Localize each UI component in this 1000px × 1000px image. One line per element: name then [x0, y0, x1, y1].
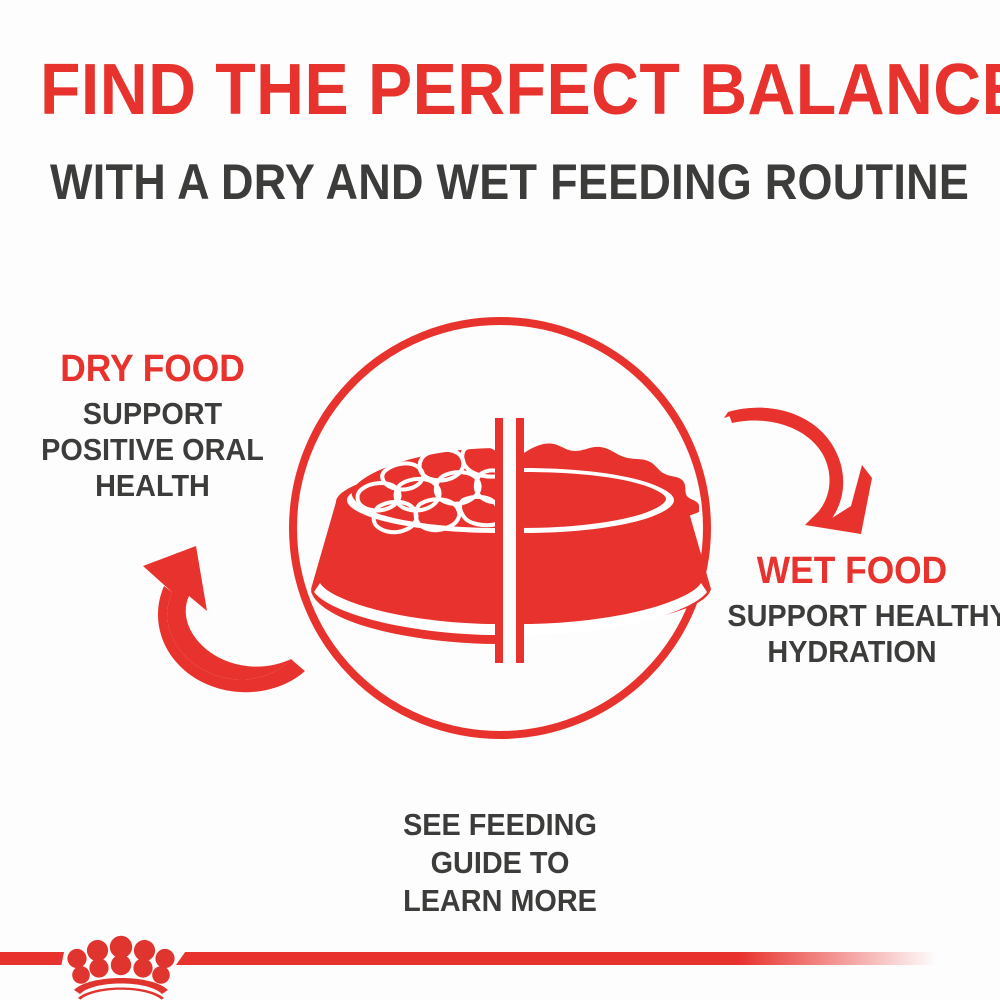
dry-food-desc-line-3: HEALTH	[29, 468, 275, 504]
bowl-base-left	[311, 513, 497, 644]
bowl-rim-right-highlight	[524, 468, 674, 533]
dry-food-description: SUPPORT POSITIVE ORAL HEALTH	[29, 396, 275, 504]
wet-food-desc-line-2: HYDRATION	[727, 634, 976, 670]
bowl-divider-left-line	[495, 418, 503, 663]
footer-bar	[0, 930, 1000, 1000]
split-pet-food-bowl-icon	[311, 418, 711, 663]
wet-food-description: SUPPORT HEALTHY HYDRATION	[727, 598, 976, 670]
poster-canvas: FIND THE PERFECT BALANCE WITH A DRY AND …	[0, 0, 1000, 1000]
wet-food-title: WET FOOD	[727, 550, 976, 592]
feeding-guide-caption: SEE FEEDING GUIDE TO LEARN MORE	[342, 806, 658, 920]
crown-logo-icon	[62, 930, 180, 1000]
wet-food-half	[524, 443, 699, 532]
bowl-divider-right-line	[516, 418, 524, 663]
bowl-body-left-lower	[313, 505, 497, 633]
bowl-rim-left-highlight	[347, 468, 497, 533]
page-title: FIND THE PERFECT BALANCE	[40, 52, 960, 128]
dry-food-desc-line-1: SUPPORT	[29, 396, 275, 432]
footer-rule-right	[176, 952, 936, 965]
footer-rule-left	[0, 952, 64, 965]
wet-food-desc-line-1: SUPPORT HEALTHY	[727, 598, 976, 634]
dry-kibble-half	[352, 445, 499, 532]
dry-food-title: DRY FOOD	[29, 348, 275, 390]
header-block: FIND THE PERFECT BALANCE WITH A DRY AND …	[0, 52, 1000, 210]
bowl-foot-stripe-right	[524, 583, 707, 635]
caption-line-2: GUIDE TO	[342, 844, 658, 882]
wet-food-label-block: WET FOOD SUPPORT HEALTHY HYDRATION	[718, 550, 986, 670]
bowl-divider-gap	[503, 418, 516, 663]
bowl-wall-left	[311, 465, 497, 634]
caption-line-1: SEE FEEDING	[342, 806, 658, 844]
curved-arrow-up-left-icon	[143, 546, 305, 692]
dry-food-label-block: DRY FOOD SUPPORT POSITIVE ORAL HEALTH	[20, 348, 285, 504]
circle-outline-icon	[293, 321, 707, 735]
bowl-wall-right	[524, 465, 711, 634]
bowl-foot-stripe-left	[314, 583, 497, 635]
caption-line-3: LEARN MORE	[342, 882, 658, 920]
page-subtitle: WITH A DRY AND WET FEEDING ROUTINE	[50, 154, 950, 210]
curved-arrow-down-right-icon	[724, 408, 872, 534]
dry-food-desc-line-2: POSITIVE ORAL	[29, 432, 275, 468]
